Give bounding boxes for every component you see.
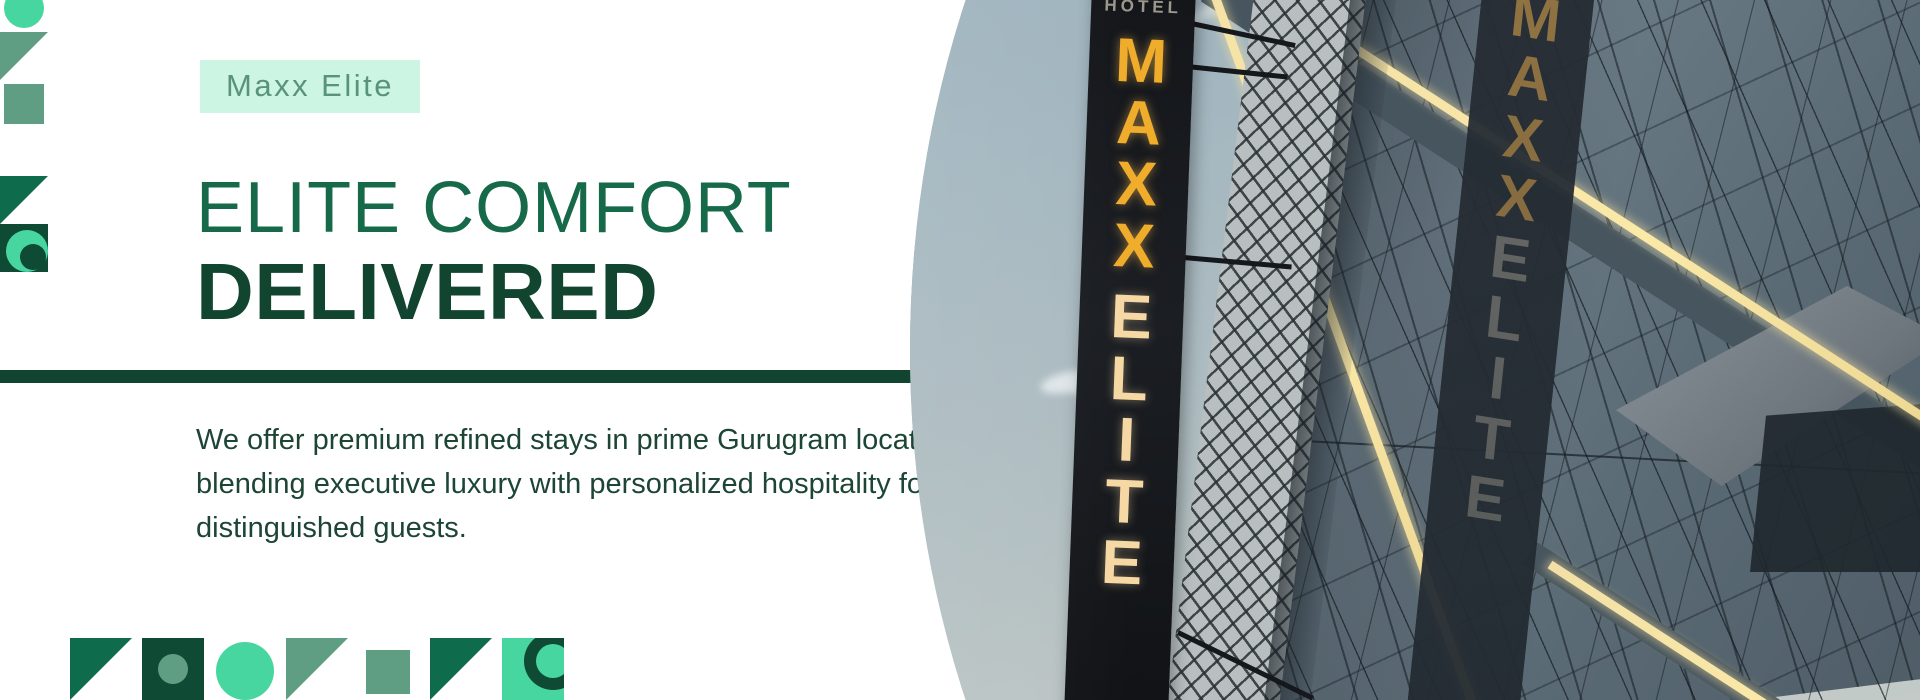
- hero-photo: M A X X E L I T E: [910, 0, 1920, 700]
- headline-line-1: ELITE COMFORT: [196, 172, 792, 244]
- hero-text-column: Maxx Elite ELITE COMFORT DELIVERED We of…: [0, 0, 1000, 700]
- divider-rule: [0, 370, 980, 383]
- hotel-facade-photo: M A X X E L I T E: [910, 0, 1920, 700]
- photo-vignette: [910, 0, 1920, 700]
- hero-banner: Maxx Elite ELITE COMFORT DELIVERED We of…: [0, 0, 1920, 700]
- hero-description: We offer premium refined stays in prime …: [196, 418, 976, 550]
- headline-line-2: DELIVERED: [196, 252, 658, 332]
- brand-badge: Maxx Elite: [200, 60, 420, 113]
